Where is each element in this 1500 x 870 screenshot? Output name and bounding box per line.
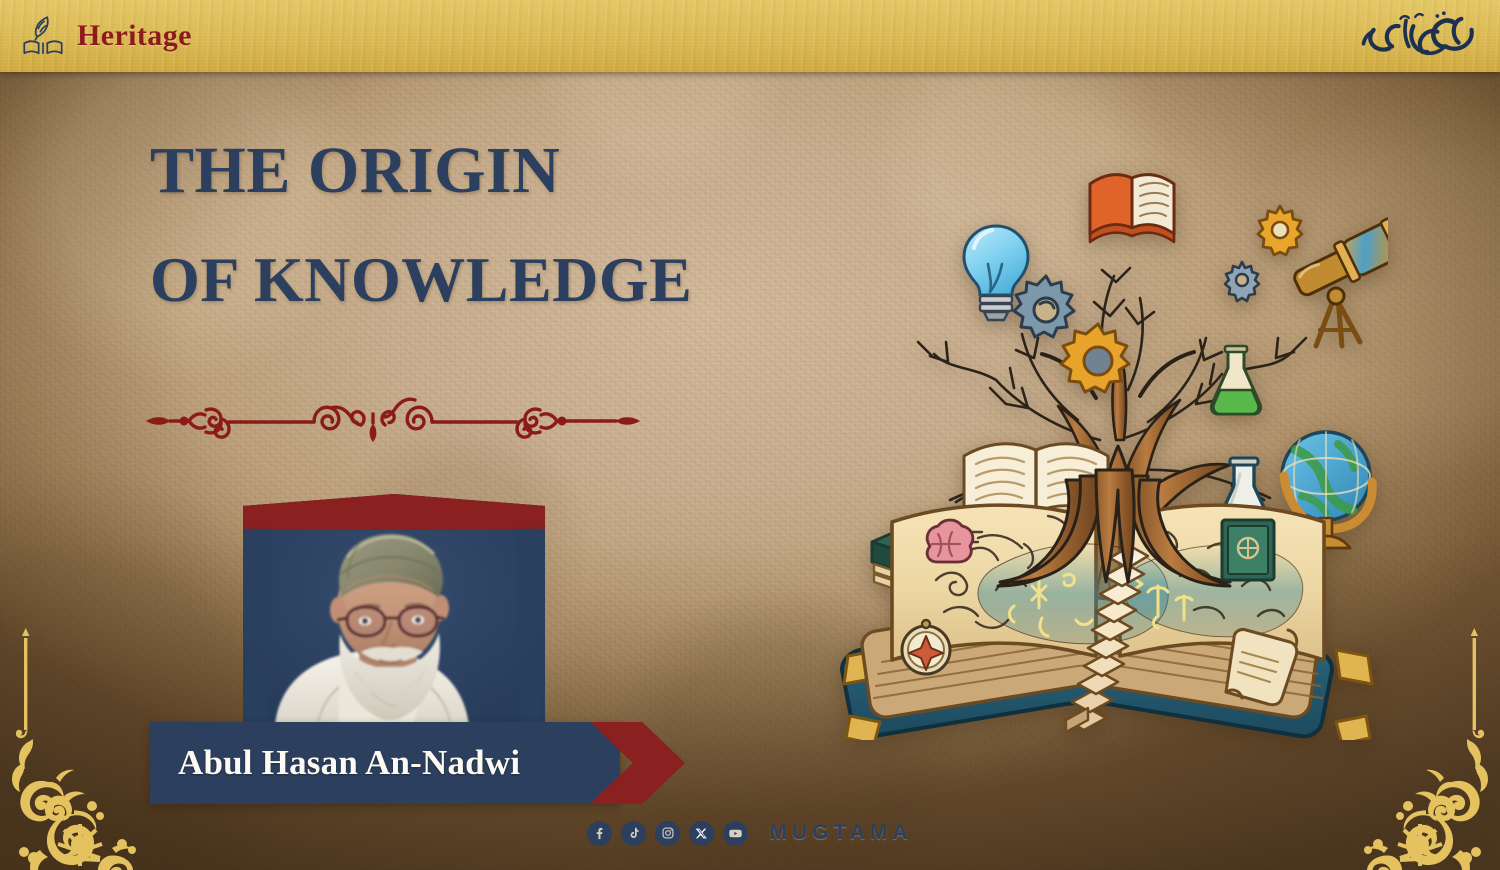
author-name-banner: Abul Hasan An-Nadwi [150, 722, 685, 804]
al-mujtama-calligraphy-logo[interactable] [1358, 4, 1478, 68]
page-title: THE ORIGIN OF KNOWLEDGE [150, 138, 692, 312]
portrait-photo [243, 494, 545, 726]
brandmark-label: MUGTAMA [769, 821, 912, 845]
youtube-icon[interactable] [723, 821, 748, 846]
title-line-2: OF KNOWLEDGE [150, 248, 692, 312]
header-banner: Heritage [0, 0, 1500, 72]
instagram-icon[interactable] [655, 821, 680, 846]
poster-canvas: Heritage THE ORIGIN [0, 0, 1500, 870]
tree-of-knowledge-illustration [828, 140, 1388, 740]
title-line-1: THE ORIGIN [150, 138, 692, 204]
book-quill-icon [20, 13, 66, 59]
brand-label: Heritage [77, 19, 192, 53]
facebook-icon[interactable] [587, 821, 612, 846]
tiktok-icon[interactable] [621, 821, 646, 846]
author-name: Abul Hasan An-Nadwi [178, 722, 608, 804]
x-twitter-icon[interactable] [689, 821, 714, 846]
footer-social-bar: MUGTAMA [0, 816, 1500, 850]
author-portrait [243, 494, 545, 726]
brand[interactable]: Heritage [20, 0, 192, 72]
ornamental-flourish-divider [140, 394, 670, 448]
